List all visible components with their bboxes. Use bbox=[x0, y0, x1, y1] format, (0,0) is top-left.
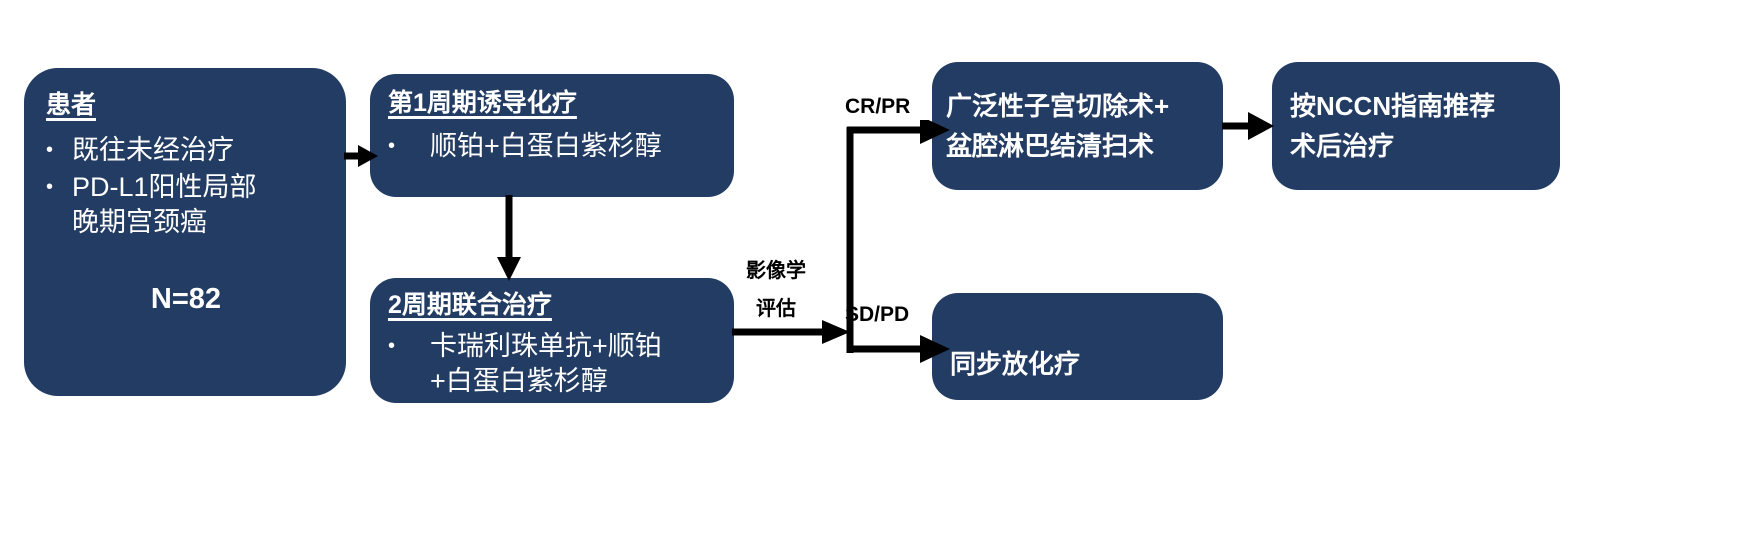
arrow-surgery-to-nccn bbox=[1222, 101, 1274, 151]
edge-label-imaging-assessment: 影像学 评估 bbox=[746, 252, 806, 328]
node-nccn-content: 按NCCN指南推荐 术后治疗 bbox=[1272, 62, 1560, 190]
node-cycle1-content: 第1周期诱导化疗 • 顺铂+白蛋白紫杉醇 bbox=[370, 74, 734, 197]
flowchart-canvas: 患者 • 既往未经治疗 • PD-L1阳性局部 晚期宫颈癌 N=82 第1周期诱… bbox=[0, 0, 1738, 537]
node-cycle2-combination-therapy[interactable]: 2周期联合治疗 • 卡瑞利珠单抗+顺铂 +白蛋白紫杉醇 bbox=[370, 278, 734, 403]
node-cycle1-title: 第1周期诱导化疗 bbox=[388, 88, 720, 119]
node-surgery-text: 广泛性子宫切除术+ 盆腔淋巴结清扫术 bbox=[946, 86, 1211, 167]
node-cycle2-bullet-1-text: 卡瑞利珠单抗+顺铂 +白蛋白紫杉醇 bbox=[430, 329, 720, 399]
node-patients[interactable]: 患者 • 既往未经治疗 • PD-L1阳性局部 晚期宫颈癌 N=82 bbox=[24, 68, 346, 396]
bullet-marker-icon: • bbox=[46, 170, 72, 200]
node-cycle2-bullet-1: • 卡瑞利珠单抗+顺铂 +白蛋白紫杉醇 bbox=[388, 329, 720, 399]
node-radical-surgery[interactable]: 广泛性子宫切除术+ 盆腔淋巴结清扫术 bbox=[932, 62, 1223, 190]
node-nccn-adjuvant-therapy[interactable]: 按NCCN指南推荐 术后治疗 bbox=[1272, 62, 1560, 190]
edge-label-cr-pr: CR/PR bbox=[845, 95, 910, 119]
bullet-marker-icon: • bbox=[46, 133, 72, 163]
node-cycle2-content: 2周期联合治疗 • 卡瑞利珠单抗+顺铂 +白蛋白紫杉醇 bbox=[370, 278, 734, 403]
node-patients-content: 患者 • 既往未经治疗 • PD-L1阳性局部 晚期宫颈癌 N=82 bbox=[24, 68, 346, 396]
node-patients-bullet-2-text: PD-L1阳性局部 晚期宫颈癌 bbox=[72, 170, 326, 240]
bullet-marker-icon: • bbox=[388, 329, 430, 359]
node-patients-count: N=82 bbox=[46, 283, 326, 316]
edge-label-sd-pd: SD/PD bbox=[845, 303, 909, 327]
arrow-cycle1-to-cycle2 bbox=[488, 195, 530, 281]
node-cycle1-bullet-1-text: 顺铂+白蛋白紫杉醇 bbox=[430, 129, 720, 164]
node-surgery-content: 广泛性子宫切除术+ 盆腔淋巴结清扫术 bbox=[932, 62, 1223, 190]
node-cycle2-title: 2周期联合治疗 bbox=[388, 290, 720, 321]
node-nccn-text: 按NCCN指南推荐 术后治疗 bbox=[1290, 86, 1548, 167]
node-patients-title: 患者 bbox=[46, 90, 326, 121]
node-concurrent-chemoradiotherapy[interactable]: 同步放化疗 bbox=[932, 293, 1223, 400]
node-cycle1-induction-chemo[interactable]: 第1周期诱导化疗 • 顺铂+白蛋白紫杉醇 bbox=[370, 74, 734, 197]
node-cycle1-bullet-1: • 顺铂+白蛋白紫杉醇 bbox=[388, 129, 720, 164]
node-patients-bullet-1-text: 既往未经治疗 bbox=[72, 133, 326, 168]
node-ccrt-content: 同步放化疗 bbox=[932, 293, 1223, 400]
node-ccrt-text: 同步放化疗 bbox=[950, 348, 1211, 382]
node-patients-bullet-2: • PD-L1阳性局部 晚期宫颈癌 bbox=[46, 170, 326, 240]
bullet-marker-icon: • bbox=[388, 129, 430, 159]
node-patients-bullet-1: • 既往未经治疗 bbox=[46, 133, 326, 168]
